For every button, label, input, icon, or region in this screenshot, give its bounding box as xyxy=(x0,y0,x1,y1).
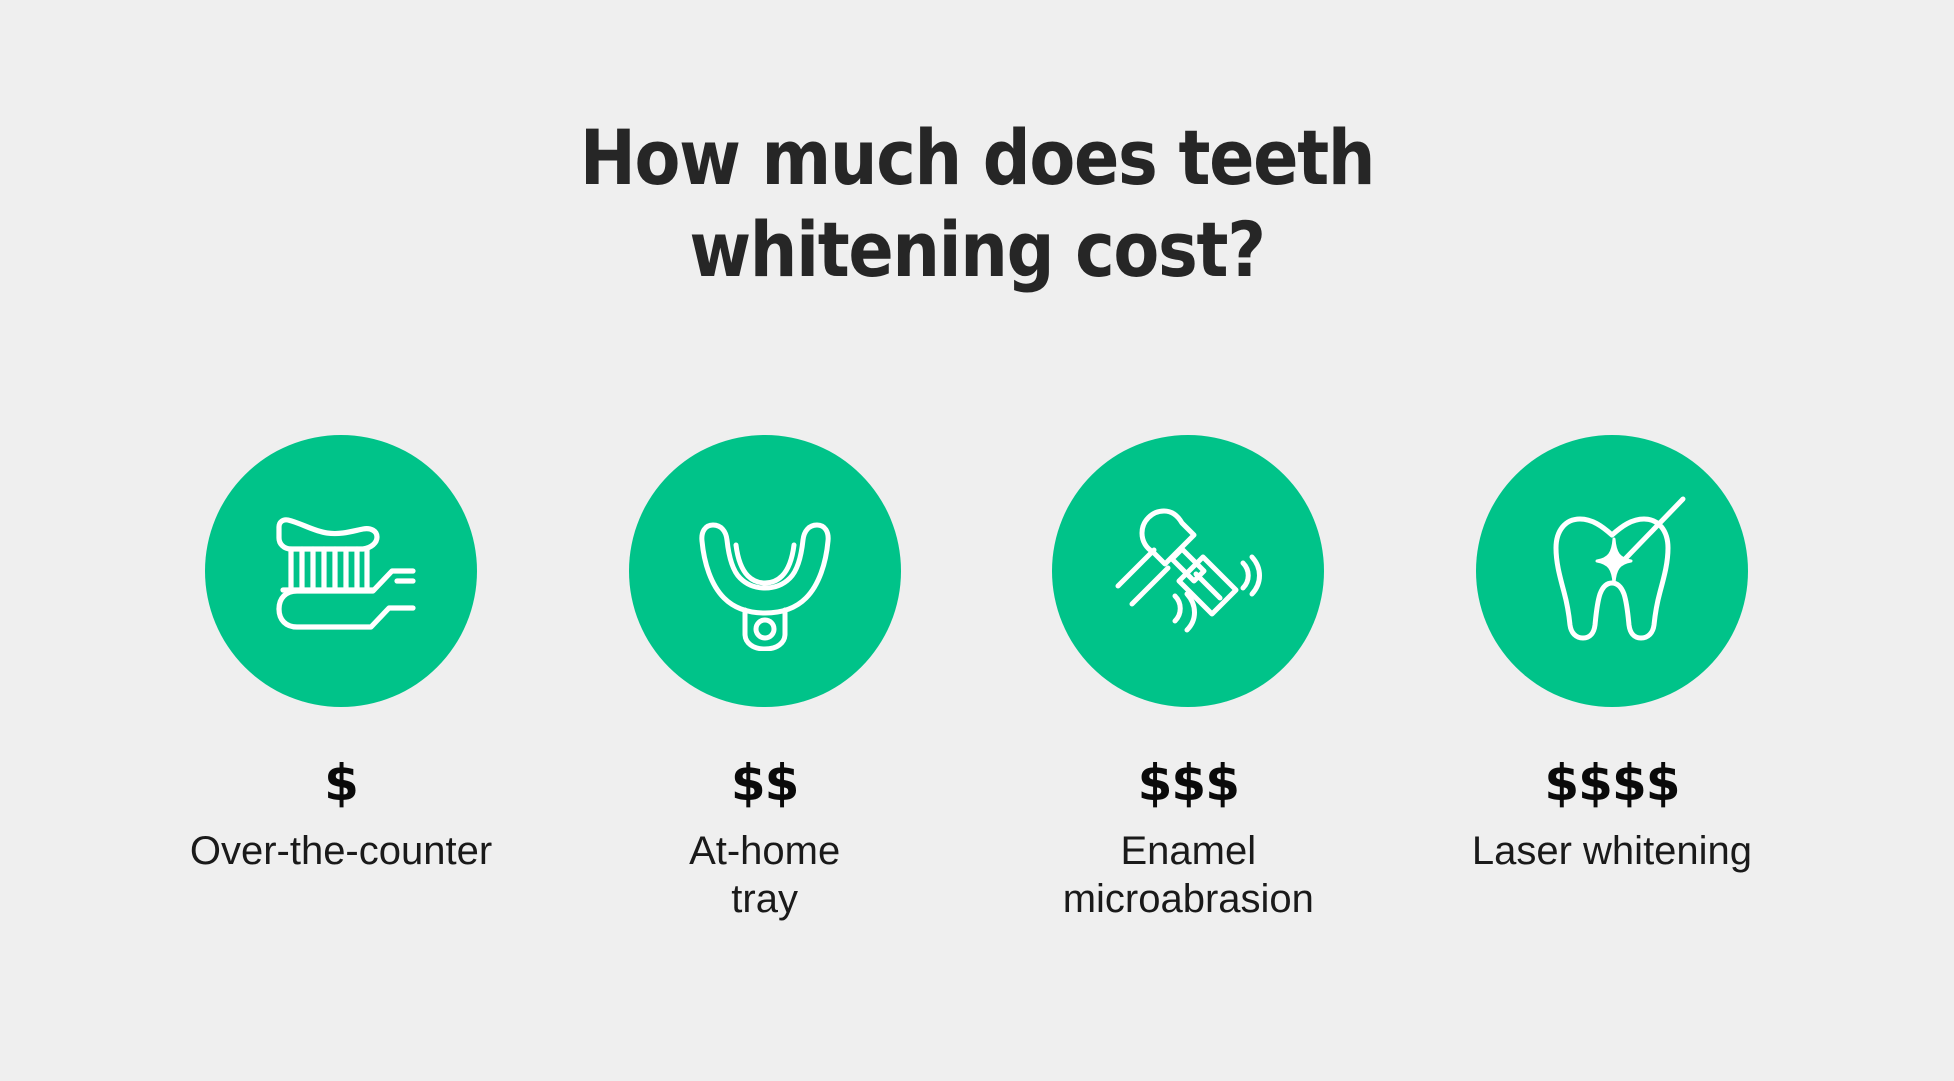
price-tier-badge: $$$$ xyxy=(1544,755,1679,811)
treatment-label: Laser whitening xyxy=(1472,827,1752,875)
cost-tier-list: $ Over-the-counter $$ At-home tray xyxy=(205,435,1748,923)
treatment-label: At-home tray xyxy=(689,827,840,923)
treatment-label: Over-the-counter xyxy=(190,827,492,875)
tooth-with-laser-sparkle-icon xyxy=(1476,435,1748,707)
page-title-line-1: How much does teeth xyxy=(117,112,1837,204)
dental-tray-icon xyxy=(629,435,901,707)
page-title-line-2: whitening cost? xyxy=(117,204,1837,296)
cost-tier-item-laser-whitening: $$$$ Laser whitening xyxy=(1476,435,1748,875)
teeth-whitening-cost-infographic: How much does teeth whitening cost? $ Ov… xyxy=(0,0,1954,1081)
price-tier-badge: $ xyxy=(324,755,358,811)
price-tier-badge: $$$ xyxy=(1138,755,1239,811)
cost-tier-item-enamel-microabrasion: $$$ Enamel microabrasion xyxy=(1052,435,1324,923)
cost-tier-item-over-the-counter: $ Over-the-counter xyxy=(205,435,477,875)
cost-tier-item-at-home-tray: $$ At-home tray xyxy=(629,435,901,923)
page-title: How much does teeth whitening cost? xyxy=(0,112,1954,296)
dental-handpiece-icon xyxy=(1052,435,1324,707)
price-tier-badge: $$ xyxy=(731,755,799,811)
toothbrush-with-paste-icon xyxy=(205,435,477,707)
treatment-label: Enamel microabrasion xyxy=(1063,827,1314,923)
